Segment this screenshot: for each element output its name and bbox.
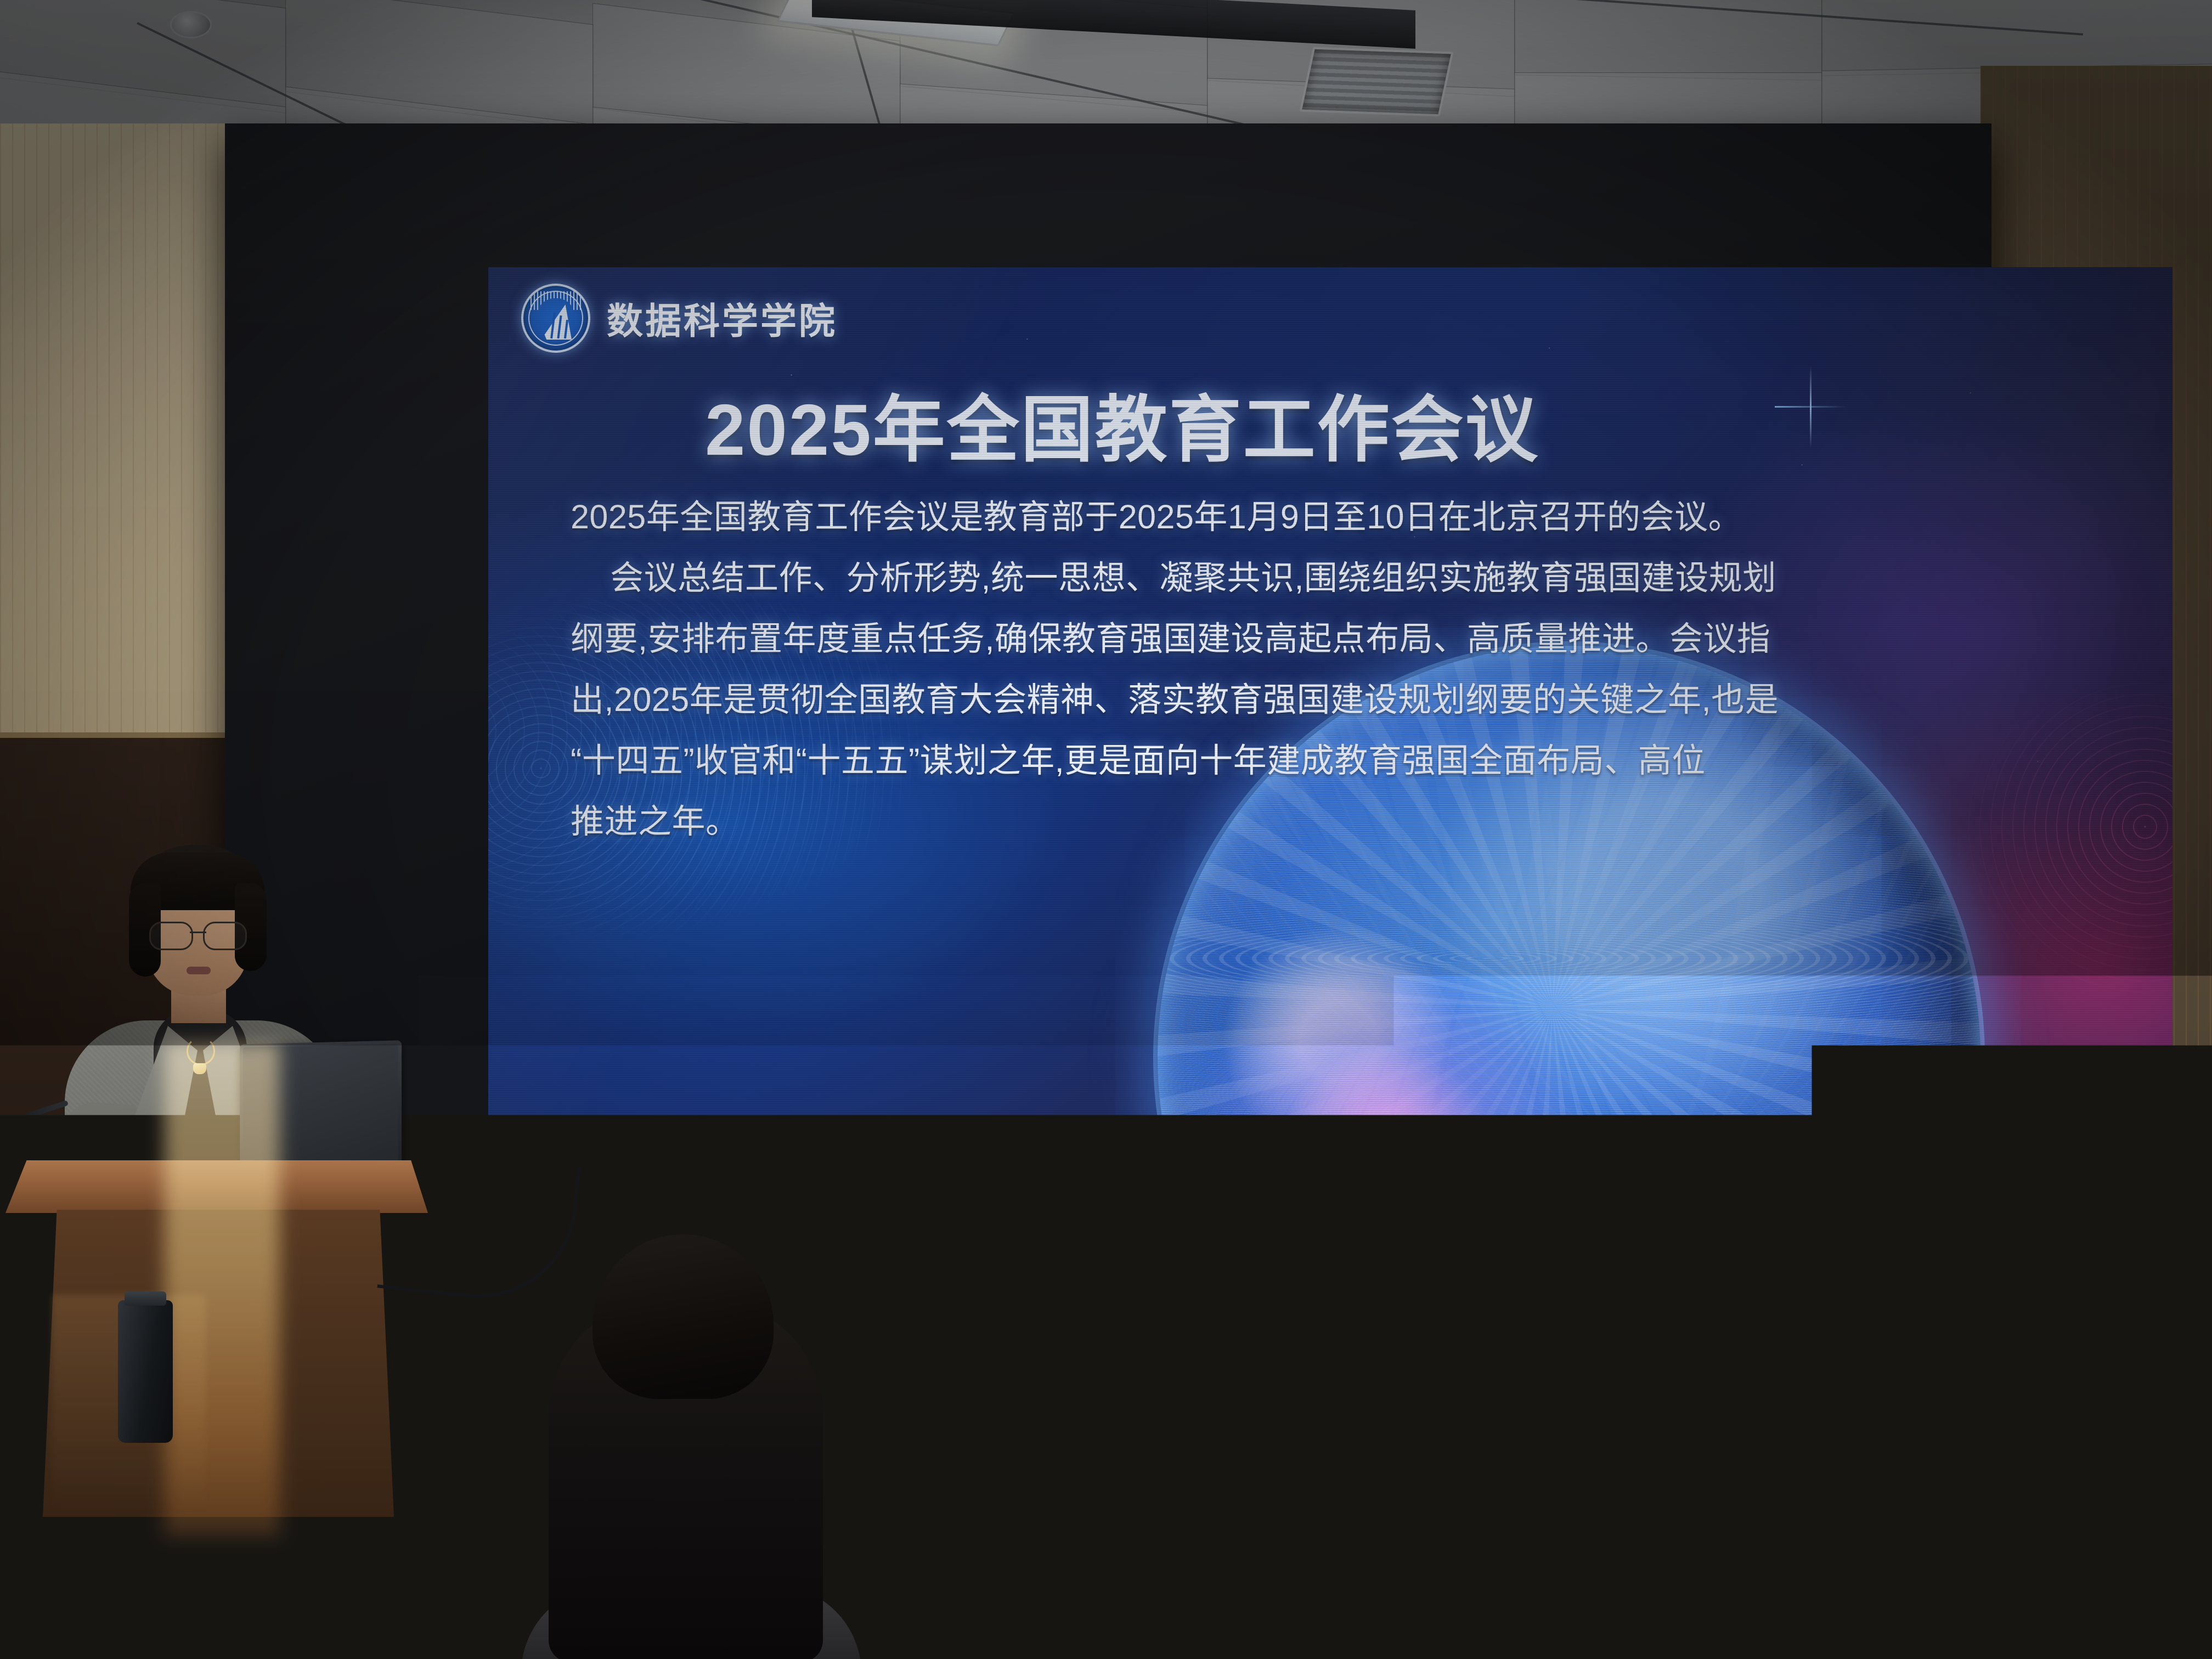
slide-body-line: 出,2025年是贯彻全国教育大会精神、落实教育强国建设规划纲要的关键之年,也是 (571, 669, 2118, 730)
slide-body-line: 2025年全国教育工作会议是教育部于2025年1月9日至10日在北京召开的会议。 (571, 487, 2118, 548)
slide-org-name: 数据科学学院 (607, 292, 837, 345)
university-crest-logo (521, 284, 590, 353)
audience-man-navy (1915, 1064, 2212, 1659)
slide-body-line: “十四五”收官和“十五五”谋划之年,更是面向十年建成教育强国全面布局、高位 (571, 730, 2118, 791)
audience-body (0, 1517, 198, 1659)
projection-screen-bezel: 数据科学学院 2025年全国教育工作会议 2025年全国教育工作会议是教育部于2… (225, 123, 1991, 1210)
power-socket[interactable] (1322, 1245, 1356, 1279)
podium-top (5, 1160, 428, 1213)
presenter-pendant (193, 1063, 206, 1074)
presenter-mouth (187, 967, 211, 974)
presenter-eyeglasses (149, 922, 247, 948)
presentation-slide: 数据科学学院 2025年全国教育工作会议 2025年全国教育工作会议是教育部于2… (488, 267, 2172, 1166)
slide-body-text: 2025年全国教育工作会议是教育部于2025年1月9日至10日在北京召开的会议。… (571, 487, 2118, 852)
power-socket[interactable] (1470, 1246, 1504, 1280)
audience-long-hair (483, 1234, 878, 1659)
audience-head (0, 1421, 121, 1536)
slide-body-line: 纲要,安排布置年度重点任务,确保教育强国建设高起点布局、高质量推进。会议指 (571, 608, 2118, 669)
slide-title: 2025年全国教育工作会议 (705, 371, 1539, 476)
presenter-necklace (187, 1037, 215, 1065)
audience-shirt (1893, 1256, 2212, 1659)
slide-body-line: 会议总结工作、分析形势,统一思想、凝聚共识,围绕组织实施教育强国建设规划 (571, 548, 2118, 608)
audience-head (1980, 1064, 2178, 1245)
audience-ear (1972, 1152, 2006, 1200)
slide-body-line: 推进之年。 (571, 791, 2118, 852)
crosshair-decoration-icon (1775, 366, 1846, 448)
ceiling-air-vent (1299, 47, 1453, 116)
audience-head (592, 1234, 774, 1399)
slide-brand: 数据科学学院 (521, 284, 837, 353)
conference-room-photo: 数据科学学院 2025年全国教育工作会议 2025年全国教育工作会议是教育部于2… (0, 0, 2212, 1659)
podium-laptop (240, 1040, 402, 1171)
ceiling-speaker (170, 11, 212, 38)
audience-foreground-left (0, 1421, 208, 1659)
